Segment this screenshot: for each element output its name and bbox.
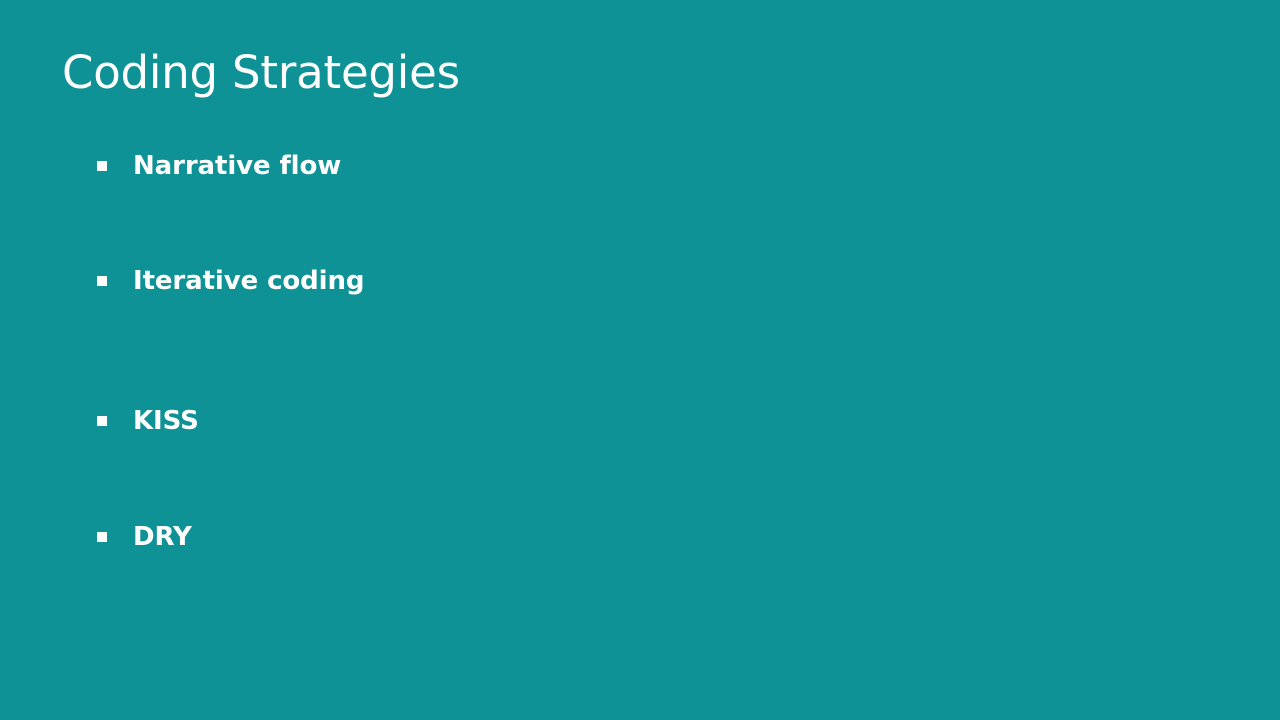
list-item-label: KISS: [133, 404, 199, 438]
list-item[interactable]: Narrative flow: [97, 149, 341, 183]
list-item[interactable]: DRY: [97, 520, 192, 554]
list-item[interactable]: Iterative coding: [97, 264, 364, 298]
square-bullet-icon: [97, 161, 107, 171]
square-bullet-icon: [97, 276, 107, 286]
square-bullet-icon: [97, 416, 107, 426]
list-item[interactable]: KISS: [97, 404, 199, 438]
square-bullet-icon: [97, 532, 107, 542]
list-item-label: DRY: [133, 520, 192, 554]
list-item-label: Iterative coding: [133, 264, 364, 298]
bullet-list: Narrative flow Iterative coding KISS DRY: [0, 0, 1280, 720]
list-item-label: Narrative flow: [133, 149, 341, 183]
presentation-slide: Coding Strategies Narrative flow Iterati…: [0, 0, 1280, 720]
